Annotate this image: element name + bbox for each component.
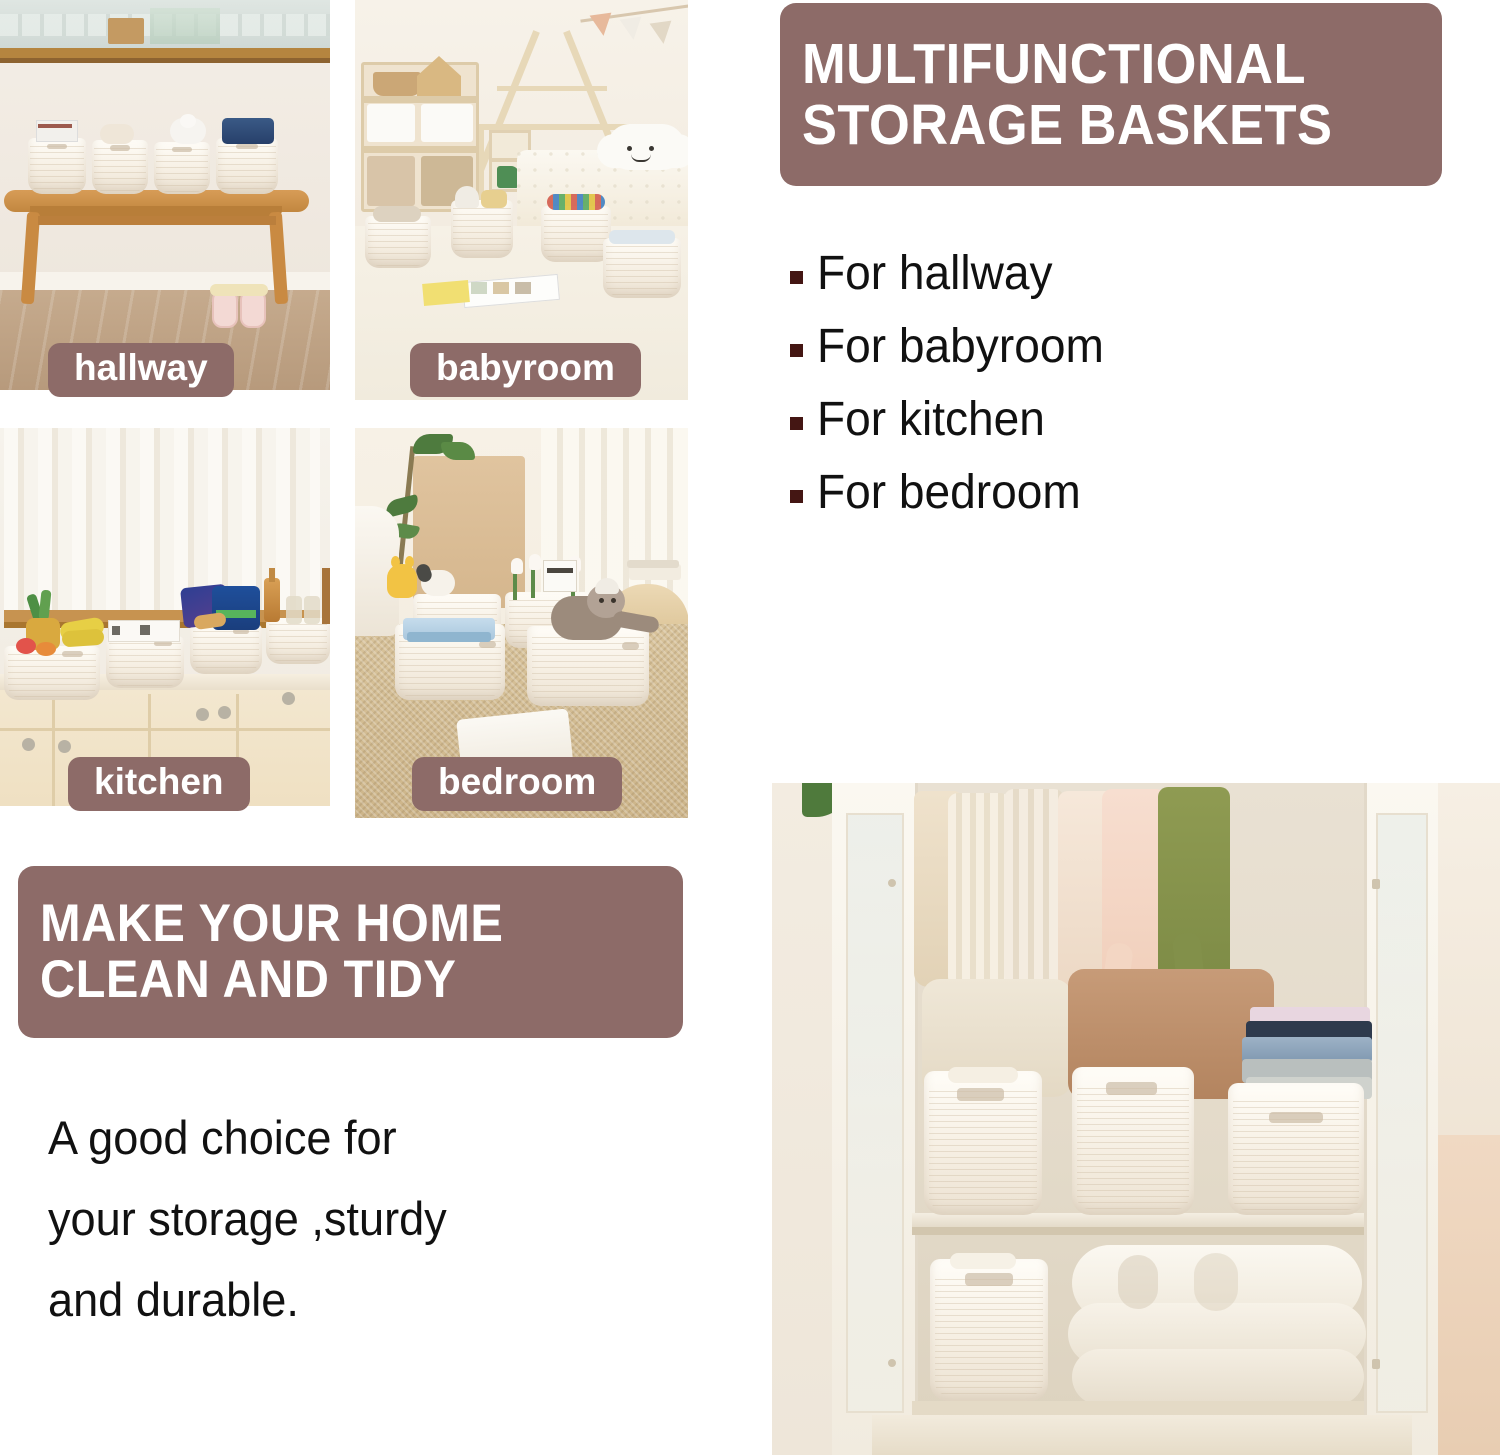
title-banner: MULTIFUNCTIONAL STORAGE BASKETS (780, 3, 1442, 186)
benefits-list: For hallway For babyroom For kitchen For… (790, 250, 1390, 517)
benefit-label: For bedroom (817, 469, 1081, 517)
photo-closet (772, 783, 1500, 1455)
caption-kitchen: kitchen (68, 757, 250, 811)
bullet-square-icon (790, 417, 803, 430)
description-line-1: A good choice for (48, 1098, 662, 1179)
list-item: For bedroom (790, 469, 1390, 517)
infographic-page: hallway (0, 0, 1500, 1455)
benefit-label: For hallway (817, 250, 1053, 298)
tagline-banner: MAKE YOUR HOME CLEAN AND TIDY (18, 866, 683, 1038)
caption-hallway: hallway (48, 343, 234, 397)
photo-babyroom (355, 0, 688, 400)
bullet-square-icon (790, 271, 803, 284)
tagline-line-1: MAKE YOUR HOME (40, 896, 611, 952)
description-text: A good choice for your storage ,sturdy a… (48, 1098, 688, 1340)
benefit-label: For kitchen (817, 396, 1045, 444)
list-item: For hallway (790, 250, 1390, 298)
list-item: For kitchen (790, 396, 1390, 444)
list-item: For babyroom (790, 323, 1390, 371)
title-line-1: MULTIFUNCTIONAL (802, 34, 1371, 94)
caption-babyroom: babyroom (410, 343, 641, 397)
description-line-2: your storage ,sturdy (48, 1179, 662, 1260)
benefit-label: For babyroom (817, 323, 1104, 371)
caption-bedroom: bedroom (412, 757, 622, 811)
description-line-3: and durable. (48, 1260, 662, 1341)
bullet-square-icon (790, 344, 803, 357)
tagline-line-2: CLEAN AND TIDY (40, 952, 611, 1008)
title-line-2: STORAGE BASKETS (802, 95, 1371, 155)
bullet-square-icon (790, 490, 803, 503)
photo-kitchen (0, 428, 330, 806)
photo-hallway (0, 0, 330, 390)
